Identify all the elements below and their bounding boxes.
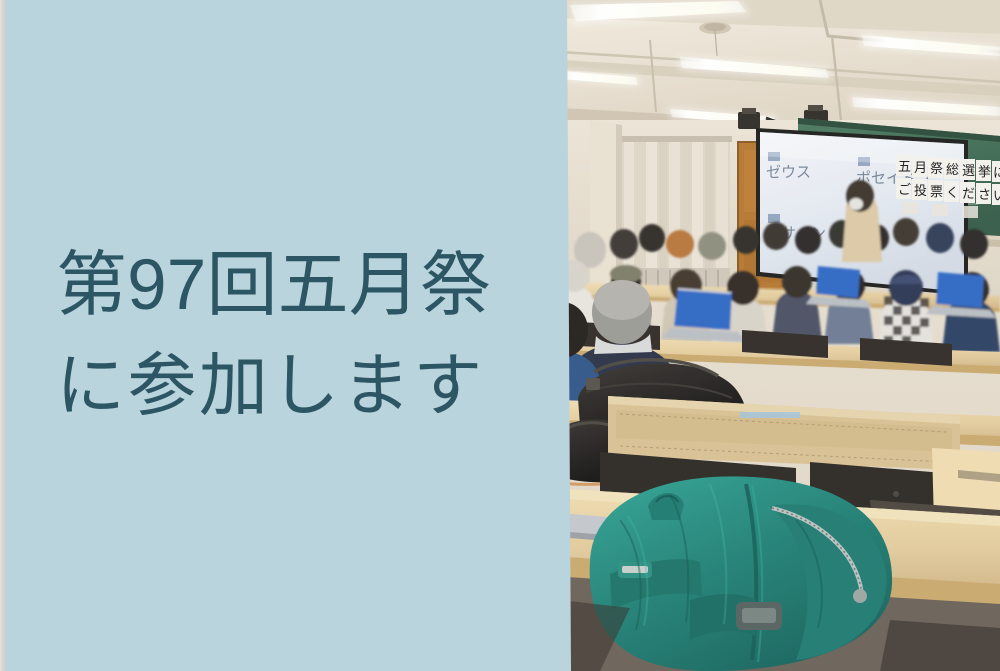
page-title: 第97回五月祭 に参加します [56,236,526,435]
title-line-2: に参加します [56,337,526,435]
lecture-hall-photo: ゼウス ポセイドン ンサイン Shim 五 月 祭 総 選 挙 に [560,0,1000,671]
mayfest-participation-banner: ゼウス ポセイドン ンサイン Shim 五 月 祭 総 選 挙 に [0,0,1000,671]
left-edge-strip [0,0,6,671]
lecture-hall-illustration: ゼウス ポセイドン ンサイン Shim 五 月 祭 総 選 挙 に [560,0,1000,671]
title-line-1: 第97回五月祭 [56,236,526,337]
